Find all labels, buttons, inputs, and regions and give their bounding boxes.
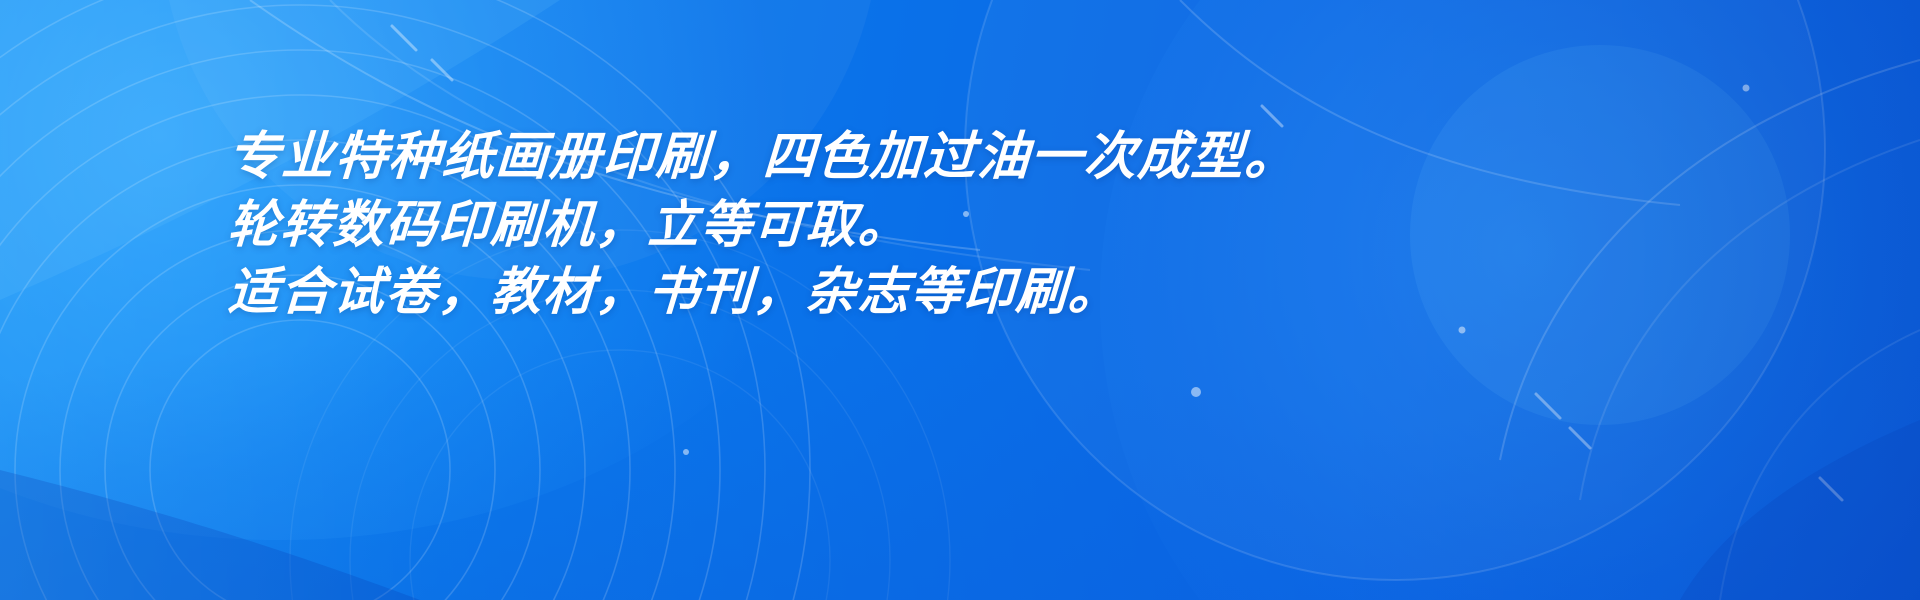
promo-banner: 专业特种纸画册印刷，四色加过油一次成型。 轮转数码印刷机，立等可取。 适合试卷，…	[0, 0, 1920, 600]
headline-line-1: 专业特种纸画册印刷，四色加过油一次成型。	[226, 124, 1710, 191]
headline-block: 专业特种纸画册印刷，四色加过油一次成型。 轮转数码印刷机，立等可取。 适合试卷，…	[228, 124, 1708, 325]
headline-line-3: 适合试卷，教材，书刊，杂志等印刷。	[226, 258, 1710, 325]
headline-line-2: 轮转数码印刷机，立等可取。	[226, 191, 1710, 258]
